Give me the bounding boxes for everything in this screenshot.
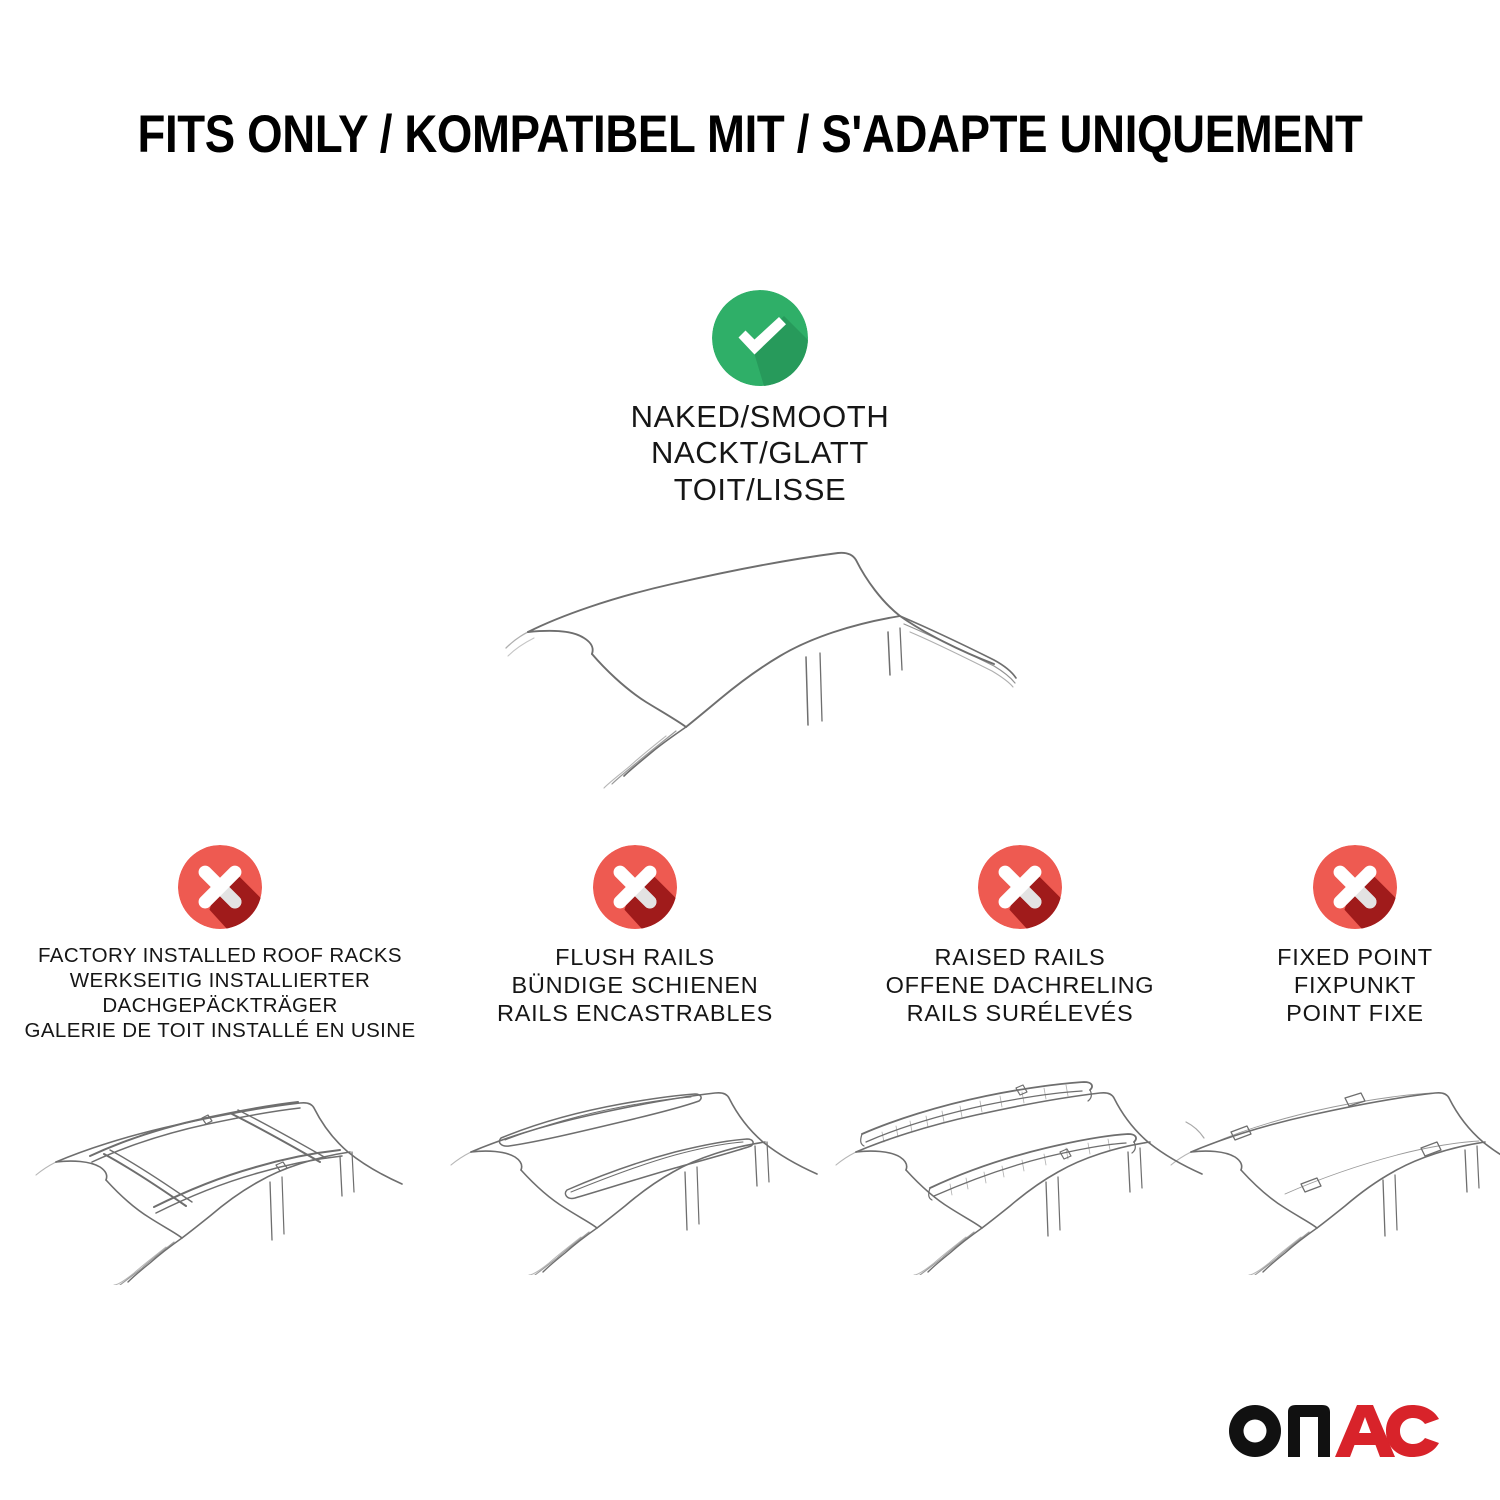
incompatible-roof-type-labels: FLUSH RAILS BÜNDIGE SCHIENEN RAILS ENCAS… (440, 943, 830, 1028)
incompatible-roof-type-flush-rails: FLUSH RAILS BÜNDIGE SCHIENEN RAILS ENCAS… (440, 845, 830, 1043)
incompatible-roof-type-labels: RAISED RAILS OFFENE DACHRELING RAILS SUR… (830, 943, 1210, 1028)
page-title: FITS ONLY / KOMPATIBEL MIT / S'ADAPTE UN… (105, 104, 1395, 165)
compatible-roof-type-block: NAKED/SMOOTH NACKT/GLATT TOIT/LISSE (550, 290, 970, 508)
incompatible-roof-type-labels: FACTORY INSTALLED ROOF RACKS WERKSEITIG … (0, 943, 440, 1043)
label-line-3: TOIT/LISSE (550, 472, 970, 508)
cross-circle-icon (1313, 845, 1397, 929)
label-line-1: FIXED POINT (1210, 943, 1500, 971)
label-line-1: RAISED RAILS (830, 943, 1210, 971)
label-line-3: DACHGEPÄCKTRÄGER (0, 993, 440, 1018)
label-line-2: NACKT/GLATT (550, 435, 970, 471)
label-line-1: FLUSH RAILS (440, 943, 830, 971)
incompatible-roof-type-fixed-point: FIXED POINT FIXPUNKT POINT FIXE (1210, 845, 1500, 1043)
omac-logo (1226, 1402, 1442, 1460)
incompatible-roof-type-raised-rails: RAISED RAILS OFFENE DACHRELING RAILS SUR… (830, 845, 1210, 1043)
car-roof-factory-installed-roof-racks-illustration (34, 1070, 406, 1285)
label-line-2: OFFENE DACHRELING (830, 971, 1210, 999)
incompatible-roof-type-labels: FIXED POINT FIXPUNKT POINT FIXE (1210, 943, 1500, 1028)
label-line-3: POINT FIXE (1210, 999, 1500, 1027)
label-line-4: GALERIE DE TOIT INSTALLÉ EN USINE (0, 1018, 440, 1043)
label-line-2: BÜNDIGE SCHIENEN (440, 971, 830, 999)
car-roof-fixed-point-illustration (1169, 1060, 1500, 1275)
label-line-1: FACTORY INSTALLED ROOF RACKS (0, 943, 440, 968)
cross-circle-icon (593, 845, 677, 929)
label-line-3: RAILS SURÉLEVÉS (830, 999, 1210, 1027)
label-line-1: NAKED/SMOOTH (550, 399, 970, 435)
label-line-2: WERKSEITIG INSTALLIERTER (0, 968, 440, 993)
compatible-roof-type-labels: NAKED/SMOOTH NACKT/GLATT TOIT/LISSE (550, 399, 970, 508)
car-roof-naked-smooth-illustration (500, 520, 1040, 810)
label-line-3: RAILS ENCASTRABLES (440, 999, 830, 1027)
car-roof-raised-rails-illustration (834, 1060, 1206, 1275)
check-circle-icon (712, 290, 808, 386)
cross-circle-icon (978, 845, 1062, 929)
car-roof-flush-rails-illustration (449, 1060, 821, 1275)
cross-circle-icon (178, 845, 262, 929)
incompatible-roof-types-row: FACTORY INSTALLED ROOF RACKS WERKSEITIG … (0, 845, 1500, 1043)
incompatible-roof-type-factory-installed-roof-racks: FACTORY INSTALLED ROOF RACKS WERKSEITIG … (0, 845, 440, 1043)
label-line-2: FIXPUNKT (1210, 971, 1500, 999)
